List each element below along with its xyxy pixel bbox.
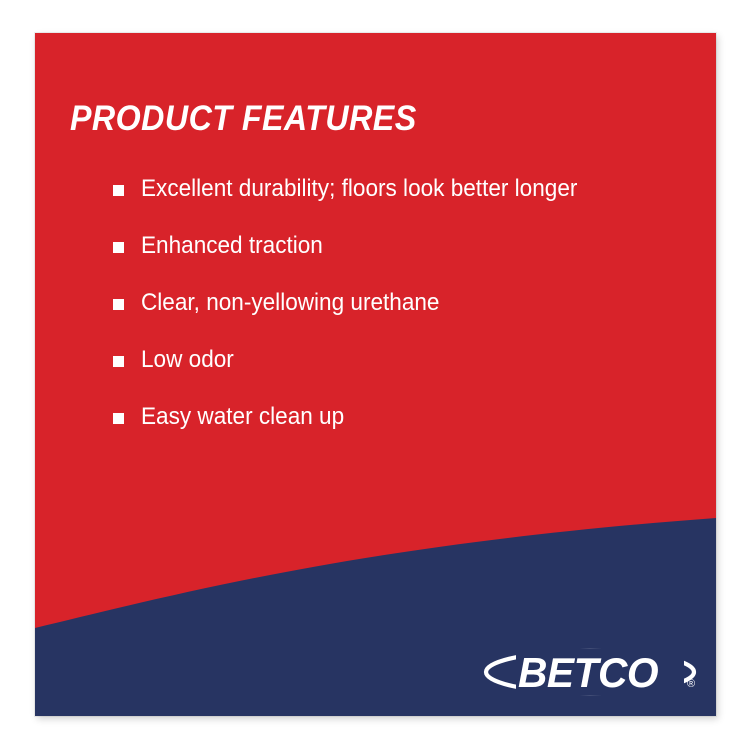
betco-wordmark: BETCO [518,649,658,696]
betco-logo-mark: BETCO ® [482,641,716,703]
list-item: Enhanced traction [113,218,673,275]
square-bullet-icon [113,413,124,424]
feature-label: Clear, non-yellowing urethane [141,290,439,316]
feature-list: Excellent durability; floors look better… [113,161,673,446]
square-bullet-icon [113,242,124,253]
page-title: PRODUCT FEATURES [70,101,417,136]
square-bullet-icon [113,356,124,367]
square-bullet-icon [113,185,124,196]
feature-label: Enhanced traction [141,233,323,259]
feature-label: Excellent durability; floors look better… [141,176,577,202]
list-item: Easy water clean up [113,389,673,446]
square-bullet-icon [113,299,124,310]
list-item: Low odor [113,332,673,389]
list-item: Excellent durability; floors look better… [113,161,673,218]
feature-label: Low odor [141,347,234,373]
feature-label: Easy water clean up [141,404,344,430]
betco-logo: BETCO ® [482,641,716,703]
registered-trademark-icon: ® [687,678,695,690]
product-features-card: PRODUCT FEATURES Excellent durability; f… [35,33,716,716]
list-item: Clear, non-yellowing urethane [113,275,673,332]
image-canvas: PRODUCT FEATURES Excellent durability; f… [0,0,750,750]
